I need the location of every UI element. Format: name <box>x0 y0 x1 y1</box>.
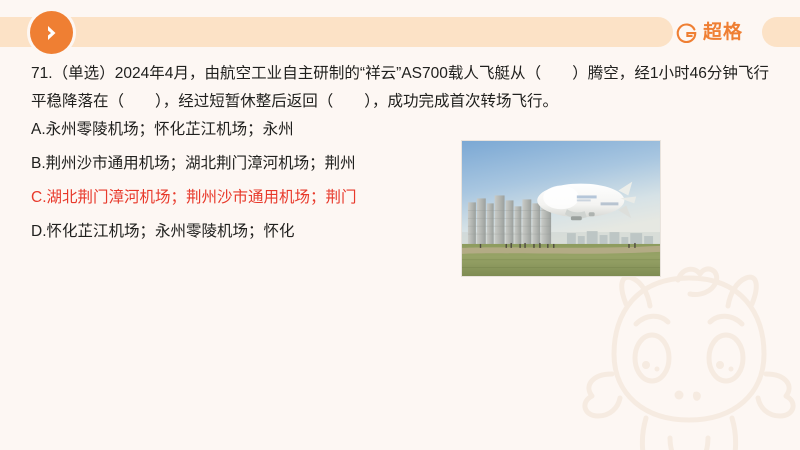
header-bar: 超格 <box>0 0 800 56</box>
question-text: 71.（单选）2024年4月，由航空工业自主研制的“祥云”AS700载人飞艇从（… <box>31 60 769 116</box>
brand-logo-text: 超格 <box>703 23 743 42</box>
option-c[interactable]: C.湖北荆门漳河机场；荆州沙市通用机场；荆门 <box>31 188 451 208</box>
option-d[interactable]: D.怀化芷江机场；永州零陵机场；怀化 <box>31 222 451 242</box>
slide-root: 超格 <box>0 0 800 450</box>
header-band-left <box>0 17 673 47</box>
content-area: 71.（单选）2024年4月，由航空工业自主研制的“祥云”AS700载人飞艇从（… <box>0 0 800 450</box>
chevron-right-glyph <box>42 23 62 43</box>
brand-logo: 超格 <box>676 17 743 47</box>
g-circle-logo-icon <box>676 22 697 43</box>
option-a[interactable]: A.永州零陵机场；怀化芷江机场；永州 <box>31 120 451 140</box>
options-list: A.永州零陵机场；怀化芷江机场；永州 B.荆州沙市通用机场；湖北荆门漳河机场；荆… <box>31 120 451 256</box>
option-b[interactable]: B.荆州沙市通用机场；湖北荆门漳河机场；荆州 <box>31 154 451 174</box>
header-band-right <box>762 17 800 47</box>
play-chevron-icon[interactable] <box>30 11 73 54</box>
